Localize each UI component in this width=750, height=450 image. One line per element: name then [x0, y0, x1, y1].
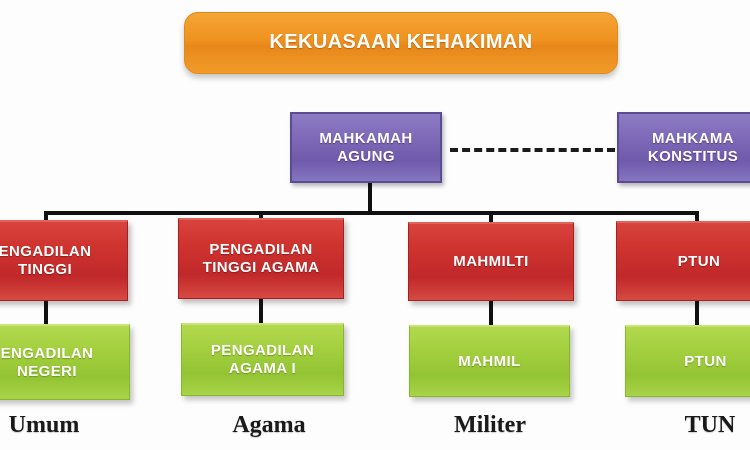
node-mahmilti-label: MAHMILTI — [453, 253, 528, 271]
node-mahkamah-agung-label: MAHKAMAH AGUNG — [319, 130, 412, 165]
node-mahkamah-konstitusi-label: MAHKAMA KONSTITUS — [648, 130, 738, 165]
caption-agama-label: Agama — [232, 412, 305, 438]
caption-agama: Agama — [209, 412, 329, 439]
node-pengadilan-tinggi-label: ENGADILAN TINGGI — [0, 243, 91, 278]
node-mahmil-label: MAHMIL — [458, 353, 520, 371]
node-pengadilan-tinggi-agama-label: PENGADILAN TINGGI AGAMA — [203, 241, 320, 276]
caption-tun-label: TUN — [685, 412, 736, 438]
connector-mahmilti-to-mahmil — [489, 300, 493, 327]
node-mahmil[interactable]: MAHMIL — [409, 325, 570, 397]
node-pengadilan-negeri-label: ENGADILAN NEGERI — [1, 345, 94, 380]
node-ptun-tinggi-label: PTUN — [678, 253, 720, 271]
node-mahkamah-konstitusi[interactable]: MAHKAMA KONSTITUS — [617, 112, 750, 183]
caption-umum-label: Umum — [9, 412, 80, 438]
connector-tinggi-agama-to-agama — [259, 298, 263, 325]
node-pengadilan-agama[interactable]: PENGADILAN AGAMA I — [181, 323, 344, 396]
node-pengadilan-tinggi[interactable]: ENGADILAN TINGGI — [0, 220, 128, 301]
title-box-kekuasaan-kehakiman[interactable]: KEKUASAAN KEHAKIMAN — [184, 12, 618, 74]
connector-tinggi-to-negeri — [44, 300, 48, 325]
node-mahkamah-agung[interactable]: MAHKAMAH AGUNG — [290, 112, 442, 183]
node-mahmilti[interactable]: MAHMILTI — [408, 222, 574, 301]
node-ptun-label: PTUN — [684, 353, 726, 371]
node-ptun[interactable]: PTUN — [625, 325, 750, 397]
caption-militer: Militer — [430, 412, 550, 439]
caption-militer-label: Militer — [454, 412, 526, 438]
connector-dashed-agung-konstitusi — [450, 148, 615, 152]
node-pengadilan-negeri[interactable]: ENGADILAN NEGERI — [0, 324, 130, 400]
connector-horizontal-bus — [44, 211, 699, 215]
caption-umum: Umum — [0, 412, 104, 439]
node-ptun-tinggi[interactable]: PTUN — [616, 221, 750, 301]
node-pengadilan-agama-label: PENGADILAN AGAMA I — [211, 342, 314, 377]
organization-chart: KEKUASAAN KEHAKIMAN MAHKAMAH AGUNG MAHKA… — [0, 0, 750, 450]
connector-ptun-tinggi-to-ptun — [695, 300, 699, 327]
caption-tun: TUN — [650, 412, 750, 439]
node-pengadilan-tinggi-agama[interactable]: PENGADILAN TINGGI AGAMA — [178, 218, 344, 299]
title-box-label: KEKUASAAN KEHAKIMAN — [269, 31, 532, 55]
connector-agung-to-bus — [368, 183, 372, 214]
